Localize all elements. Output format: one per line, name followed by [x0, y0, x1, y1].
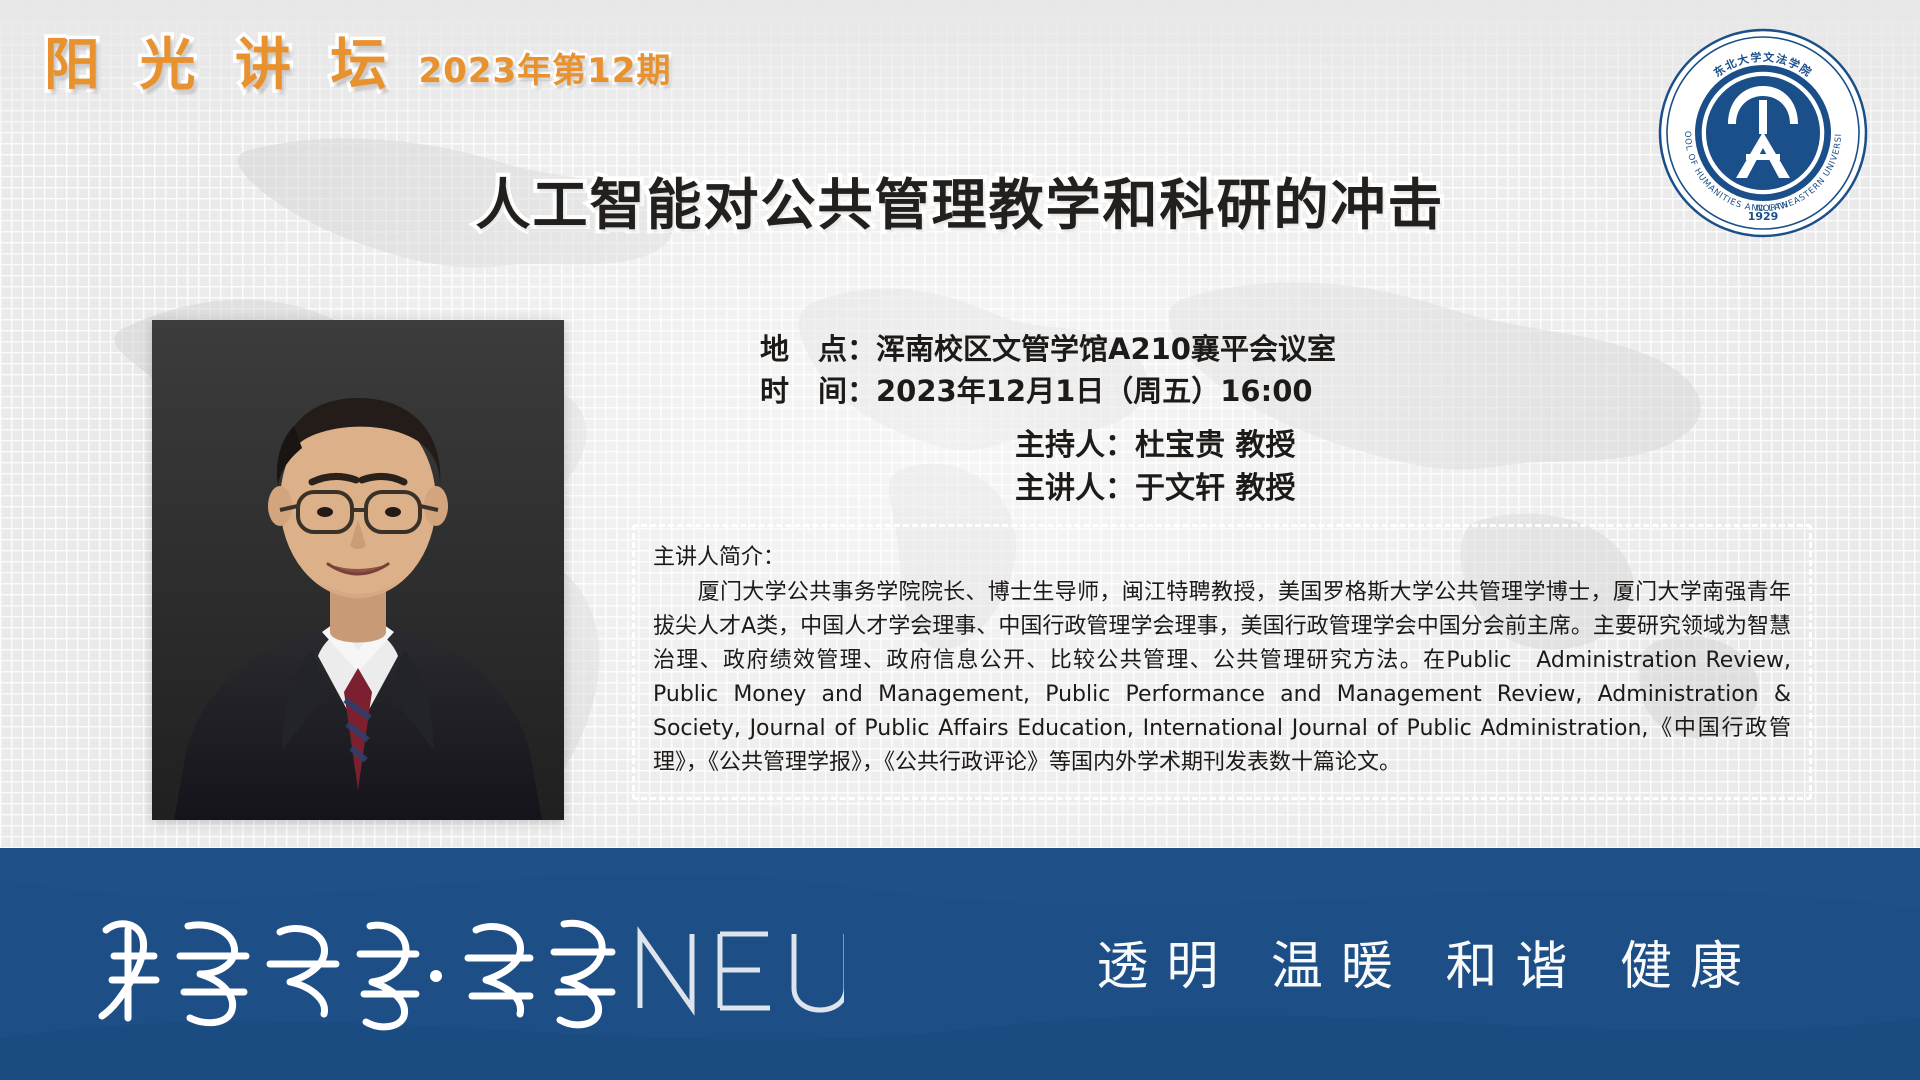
seal-year-text: 1929	[1748, 210, 1779, 223]
poster-root: 阳 光 讲 坛 2023年第12期 东北大学文法学院 SCHOOL OF HUM…	[0, 0, 1920, 1080]
speaker-bio-text: 厦门大学公共事务学院院长、博士生导师，闽江特聘教授，美国罗格斯大学公共管理学博士…	[653, 576, 1791, 781]
footer-calligraphy-motto	[84, 896, 844, 1036]
speaker-portrait-photo	[152, 320, 564, 820]
issue-label: 2023年第12期	[419, 54, 672, 88]
footer-banner: 透明 温暖 和谐 健康	[0, 848, 1920, 1080]
event-venue: 地 点：浑南校区文管学馆A210襄平会议室	[760, 328, 1336, 370]
series-title: 阳 光 讲 坛	[44, 38, 397, 94]
event-info-block: 地 点：浑南校区文管学馆A210襄平会议室 时 间：2023年12月1日（周五）…	[760, 328, 1336, 412]
page-title: 人工智能对公共管理教学和科研的冲击	[0, 160, 1920, 240]
event-host: 主持人：杜宝贵 教授	[1015, 425, 1295, 468]
speaker-bio-label: 主讲人简介：	[653, 541, 1791, 574]
neu-school-seal-logo: 东北大学文法学院 SCHOOL OF HUMANITIES AND LAW NO…	[1658, 28, 1868, 238]
event-speaker: 主讲人：于文轩 教授	[1015, 468, 1295, 511]
event-time: 时 间：2023年12月1日（周五）16:00	[760, 370, 1336, 412]
speaker-bio-box: 主讲人简介： 厦门大学公共事务学院院长、博士生导师，闽江特聘教授，美国罗格斯大学…	[632, 524, 1812, 800]
footer-values-motto: 透明 温暖 和谐 健康	[1096, 924, 1760, 999]
header-kicker: 阳 光 讲 坛 2023年第12期	[44, 38, 671, 94]
event-people-block: 主持人：杜宝贵 教授 主讲人：于文轩 教授	[1015, 425, 1295, 510]
